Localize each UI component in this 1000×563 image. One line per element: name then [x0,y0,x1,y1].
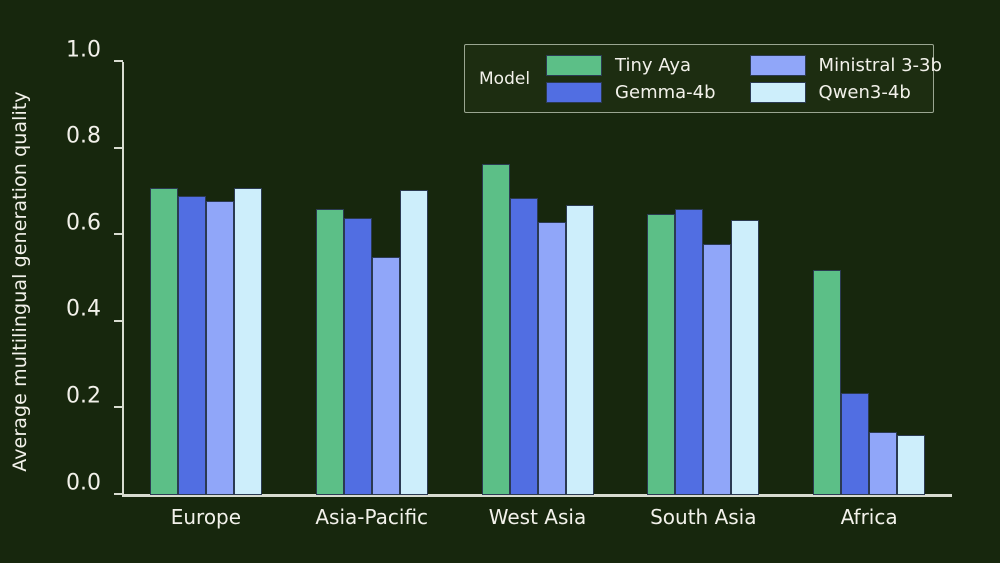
x-axis-tick-label: Africa [841,505,898,529]
bar [731,220,759,495]
legend-label: Tiny Aya [615,55,691,76]
bar [234,188,262,495]
bar-chart-figure: Average multilingual generation quality … [0,0,1000,563]
legend-label: Ministral 3-3b [819,55,942,76]
plot-area [123,62,952,495]
x-axis-tick-label: Asia-Pacific [315,505,428,529]
bar [869,432,897,495]
bar [703,244,731,495]
legend-entry[interactable]: Ministral 3-3b [750,55,942,76]
y-axis-tick-label: 0.0 [66,470,101,495]
bar [316,209,344,495]
y-axis-ticks: 0.00.20.40.60.81.0 [0,0,123,563]
bar [538,222,566,495]
y-axis-tick-label: 0.2 [66,383,101,408]
bar [647,214,675,495]
bar [813,270,841,495]
y-axis-tick-label: 1.0 [66,37,101,62]
bar [841,393,869,495]
legend-label: Qwen3-4b [819,82,911,103]
x-axis-tick-label: South Asia [650,505,756,529]
bar [372,257,400,495]
bar [510,198,538,495]
legend-entries: Tiny AyaGemma-4bMinistral 3-3bQwen3-4b [546,55,942,103]
legend-title: Model [479,69,530,89]
bar [897,435,925,495]
y-axis-tick-label: 0.6 [66,210,101,235]
x-axis-tick-label: Europe [171,505,241,529]
bar [150,188,178,495]
legend-swatch [750,55,806,76]
legend-entry[interactable]: Tiny Aya [546,55,716,76]
legend-swatch [546,55,602,76]
y-axis-tick-label: 0.4 [66,297,101,322]
bar [400,190,428,495]
bar [566,205,594,495]
bar [206,201,234,495]
bar [675,209,703,495]
bar [344,218,372,495]
legend: Model Tiny AyaGemma-4bMinistral 3-3bQwen… [464,44,934,113]
bar [482,164,510,495]
legend-swatch [750,82,806,103]
y-axis-tick-label: 0.8 [66,124,101,149]
legend-swatch [546,82,602,103]
legend-entry[interactable]: Gemma-4b [546,82,716,103]
x-axis-tick-label: West Asia [489,505,586,529]
legend-label: Gemma-4b [615,82,716,103]
bar [178,196,206,495]
legend-entry[interactable]: Qwen3-4b [750,82,942,103]
